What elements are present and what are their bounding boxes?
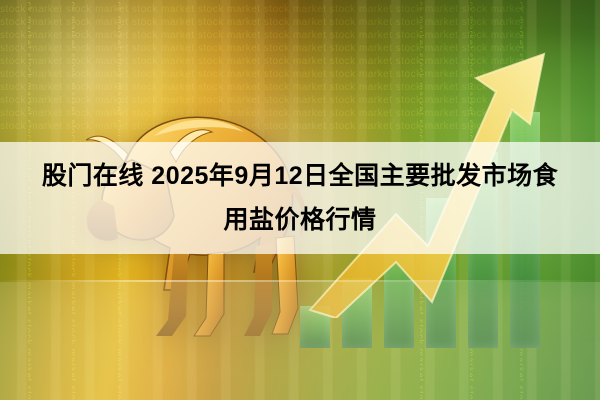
article-thumbnail-image: stock market stock market stock market s… [0, 0, 600, 400]
ticker-row: stock market stock market stock market s… [72, 0, 79, 107]
ticker-row: stock market stock market stock market s… [470, 0, 477, 107]
ticker-row: stock market stock market stock market s… [420, 0, 427, 107]
ticker-row: stock market stock market stock market s… [118, 0, 125, 107]
page-title: 股门在线 2025年9月12日全国主要批发市场食用盐价格行情 [30, 154, 570, 242]
ticker-row: stock market stock market stock market s… [28, 0, 35, 107]
horizon-line [0, 280, 600, 282]
reflective-floor [0, 282, 600, 400]
title-overlay-band: 股门在线 2025年9月12日全国主要批发市场食用盐价格行情 [0, 142, 600, 254]
ticker-row: stock market stock market stock market s… [520, 0, 527, 107]
